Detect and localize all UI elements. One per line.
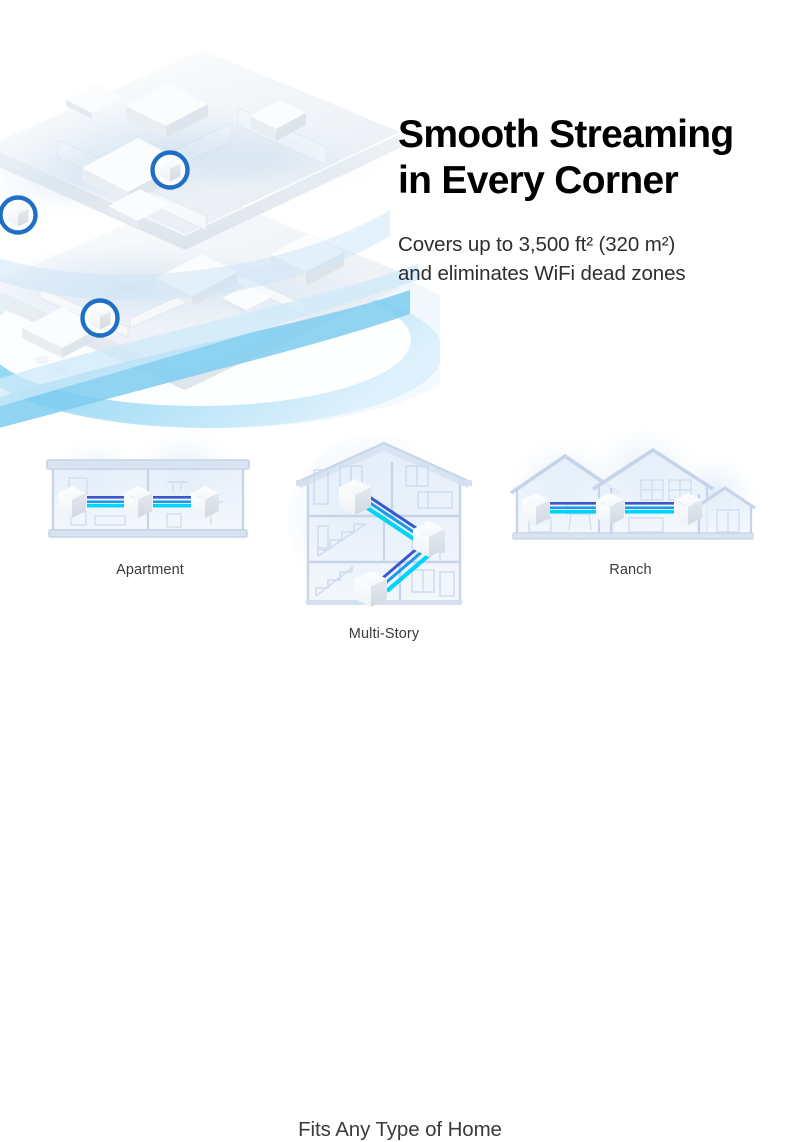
floorplan-illustration [0,40,400,420]
hero-section: Smooth Streaming in Every Corner Covers … [0,0,800,430]
page-title: Smooth Streaming in Every Corner [398,112,778,204]
home-type-label-apartment: Apartment [35,562,265,578]
title-line-2: in Every Corner [398,159,678,202]
mesh-node-marker [81,299,120,338]
hero-subtitle: Covers up to 3,500 ft² (320 m²) and elim… [398,230,778,288]
home-types-footer: Fits Any Type of Home [0,1118,800,1142]
home-type-label-multistory: Multi-Story [288,626,480,642]
hero-copy: Smooth Streaming in Every Corner Covers … [398,112,778,288]
multistory-illustration [288,430,480,622]
apartment-illustration [35,430,265,555]
promo-page: Smooth Streaming in Every Corner Covers … [0,0,800,800]
home-type-ranch: Ranch [503,430,758,555]
home-type-apartment: Apartment [35,430,265,555]
upper-floor [0,50,400,250]
mesh-node-marker [0,196,38,235]
ranch-illustration [503,430,758,555]
subtitle-line-1: Covers up to 3,500 ft² (320 m²) [398,233,675,256]
mesh-node-marker [151,151,190,190]
subtitle-line-2: and eliminates WiFi dead zones [398,262,686,285]
home-type-multistory: Multi-Story [288,430,480,622]
home-types-section: Apartment [0,430,800,800]
home-type-label-ranch: Ranch [503,562,758,578]
title-line-1: Smooth Streaming [398,113,734,156]
